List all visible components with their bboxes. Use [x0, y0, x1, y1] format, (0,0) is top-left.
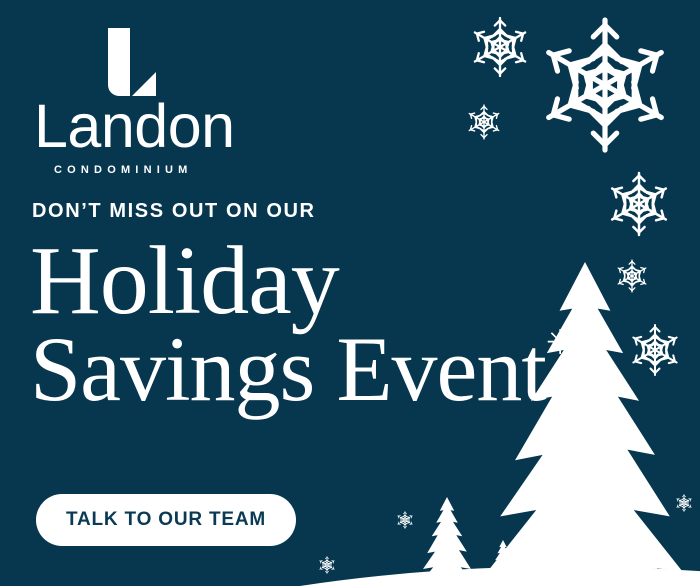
headline-line-2: Savings Event [30, 318, 546, 420]
snowflake-tiny-mid [397, 512, 414, 529]
brand-subtitle: CONDOMINIUM [54, 164, 292, 176]
snowflake-small-mid [616, 260, 648, 292]
brand-wordmark: Landon [34, 98, 292, 156]
pine-tree-medium [419, 497, 474, 586]
monogram-wedge [132, 72, 156, 96]
monogram-stem [108, 28, 130, 96]
snowflake-medium-top [471, 18, 529, 76]
headline-line-2-wrap: Savings Event✳ [30, 327, 550, 413]
snowflake-medium-right [608, 173, 670, 235]
pine-tree-small-b [635, 543, 662, 586]
snowflake-small-upper [467, 105, 501, 139]
promo-headline: Holiday Savings Event✳ [30, 236, 550, 413]
holiday-promo-banner: Landon CONDOMINIUM DON’T MISS OUT ON OUR… [0, 0, 700, 586]
snowflake-tiny-right [676, 495, 693, 512]
snow-ground-arc [300, 566, 700, 586]
brand-logo[interactable]: Landon CONDOMINIUM [32, 28, 292, 176]
pine-tree-sapling [509, 552, 528, 584]
promo-eyebrow: DON’T MISS OUT ON OUR [32, 200, 316, 223]
snowflake-large-top-right [540, 20, 669, 150]
landon-l-monogram-icon [90, 28, 152, 96]
snowflake-medium-lower-right [630, 325, 680, 375]
pine-tree-small-a [489, 540, 518, 586]
headline-line-1: Holiday [30, 236, 550, 327]
snowflake-tiny-left [319, 557, 336, 574]
asterisk-icon: ✳ [546, 323, 575, 363]
talk-to-our-team-button[interactable]: TALK TO OUR TEAM [36, 494, 296, 546]
